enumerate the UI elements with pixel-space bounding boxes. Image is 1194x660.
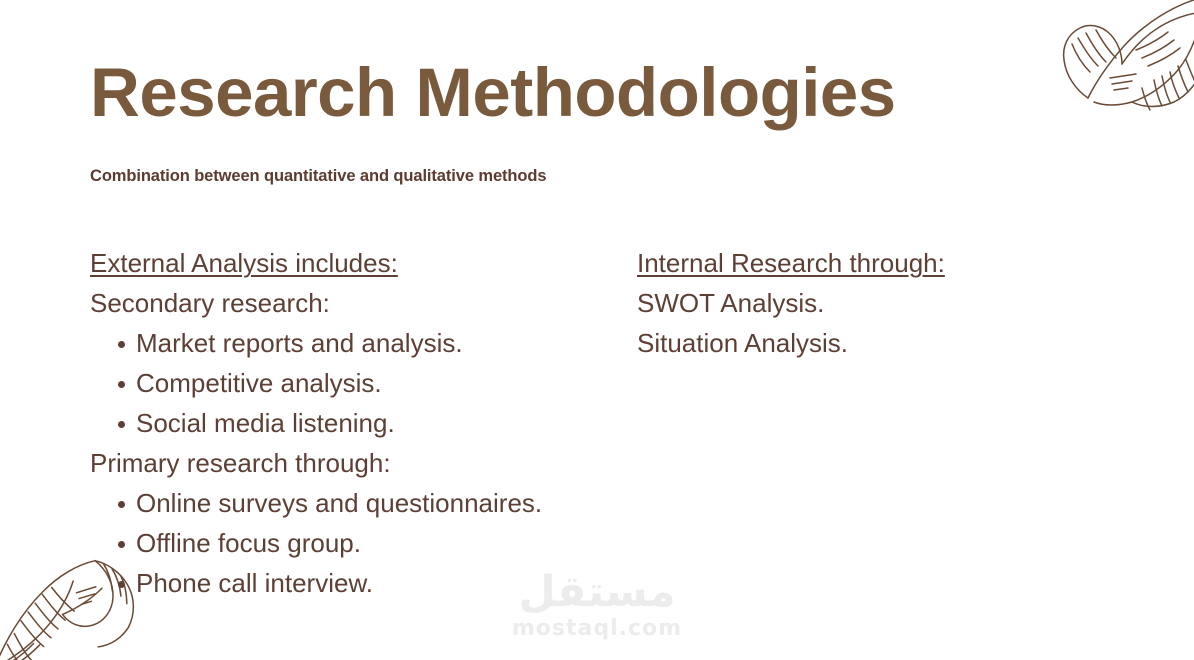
list-item: Social media listening. bbox=[90, 403, 620, 443]
primary-research-label: Primary research through: bbox=[90, 443, 620, 483]
page-subtitle: Combination between quantitative and qua… bbox=[90, 167, 546, 186]
list-item: Market reports and analysis. bbox=[90, 323, 620, 363]
internal-research-item: Situation Analysis. bbox=[637, 323, 1057, 363]
list-item: Phone call interview. bbox=[90, 563, 620, 603]
right-content-column: Internal Research through: SWOT Analysis… bbox=[637, 243, 1057, 363]
primary-research-list: Online surveys and questionnaires. Offli… bbox=[90, 483, 620, 603]
list-item: Offline focus group. bbox=[90, 523, 620, 563]
presentation-slide: Research Methodologies Combination betwe… bbox=[0, 0, 1194, 660]
list-item: Online surveys and questionnaires. bbox=[90, 483, 620, 523]
leaf-illustration-top-right-icon bbox=[1032, 0, 1194, 116]
left-column-heading: External Analysis includes: bbox=[90, 243, 620, 283]
secondary-research-label: Secondary research: bbox=[90, 283, 620, 323]
list-item: Competitive analysis. bbox=[90, 363, 620, 403]
watermark-domain-text: mostaql.com bbox=[0, 616, 1194, 642]
internal-research-item: SWOT Analysis. bbox=[637, 283, 1057, 323]
page-title: Research Methodologies bbox=[90, 58, 896, 127]
right-column-heading: Internal Research through: bbox=[637, 243, 1057, 283]
left-content-column: External Analysis includes: Secondary re… bbox=[90, 243, 620, 603]
secondary-research-list: Market reports and analysis. Competitive… bbox=[90, 323, 620, 443]
